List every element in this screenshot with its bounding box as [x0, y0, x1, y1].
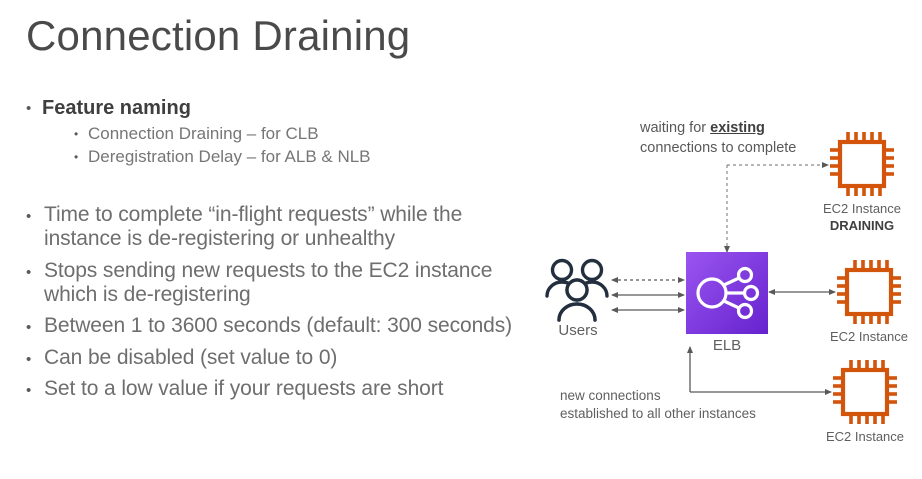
- annotation-waiting-emphasis: existing: [710, 120, 765, 136]
- bullet-label: Between 1 to 3600 seconds (default: 300 …: [44, 314, 518, 338]
- bullet-dot-icon: •: [26, 203, 44, 224]
- sub-bullet-item-alb-nlb: • Deregistration Delay – for ALB & NLB: [74, 146, 526, 168]
- ec2-instance-icon-2: [837, 260, 901, 324]
- bullet-label: Time to complete “in-flight requests” wh…: [44, 203, 518, 252]
- feature-naming-group: • Feature naming • Connection Draining –…: [26, 96, 526, 170]
- annotation-new-line2: established to all other instances: [560, 406, 756, 421]
- bullet-label: Stops sending new requests to the EC2 in…: [44, 259, 518, 308]
- users-label: Users: [548, 322, 608, 339]
- bullet-item-stops-sending: • Stops sending new requests to the EC2 …: [26, 259, 518, 308]
- body-bullet-list: • Time to complete “in-flight requests” …: [26, 203, 518, 409]
- ec2-instance-label-2: EC2 Instance: [819, 329, 919, 344]
- annotation-new-line1: new connections: [560, 388, 661, 403]
- elb-node: [686, 252, 768, 334]
- bullet-item-low-value: • Set to a low value if your requests ar…: [26, 377, 518, 401]
- annotation-waiting-existing: waiting for existing connections to comp…: [640, 119, 796, 158]
- bullet-dot-icon: •: [26, 314, 44, 335]
- bullet-dot-icon: •: [74, 146, 88, 163]
- ec2-instance-label-1: EC2 Instance: [812, 201, 912, 216]
- bullet-dot-icon: •: [26, 377, 44, 398]
- bullet-dot-icon: •: [74, 123, 88, 140]
- ec2-instance-status-draining: DRAINING: [812, 218, 912, 233]
- architecture-diagram: waiting for existing connections to comp…: [530, 110, 922, 455]
- ec2-instance-label-3: EC2 Instance: [815, 429, 915, 444]
- annotation-waiting-line1-pre: waiting for: [640, 120, 710, 136]
- bullet-item-inflight-requests: • Time to complete “in-flight requests” …: [26, 203, 518, 252]
- annotation-new-connections: new connections established to all other…: [560, 387, 756, 423]
- sub-bullet-item-clb: • Connection Draining – for CLB: [74, 123, 526, 145]
- users-icon-front-overlay: [559, 280, 595, 320]
- sub-bullet-label: Connection Draining – for CLB: [88, 123, 526, 145]
- bullet-label: Can be disabled (set value to 0): [44, 346, 518, 370]
- bullet-dot-icon: •: [26, 96, 42, 116]
- ec2-instance-icon-1: [830, 132, 894, 196]
- bullet-dot-icon: •: [26, 259, 44, 280]
- bullet-label: Set to a low value if your requests are …: [44, 377, 518, 401]
- bullet-dot-icon: •: [26, 346, 44, 367]
- sub-bullet-label: Deregistration Delay – for ALB & NLB: [88, 146, 526, 168]
- bullet-item-can-be-disabled: • Can be disabled (set value to 0): [26, 346, 518, 370]
- bullet-label: Feature naming: [42, 96, 526, 121]
- annotation-waiting-line2: connections to complete: [640, 140, 796, 156]
- page-title: Connection Draining: [26, 12, 410, 60]
- elb-label: ELB: [687, 337, 767, 354]
- bullet-item-feature-naming: • Feature naming: [26, 96, 526, 121]
- ec2-instance-icon-3: [833, 360, 897, 424]
- bullet-item-seconds-range: • Between 1 to 3600 seconds (default: 30…: [26, 314, 518, 338]
